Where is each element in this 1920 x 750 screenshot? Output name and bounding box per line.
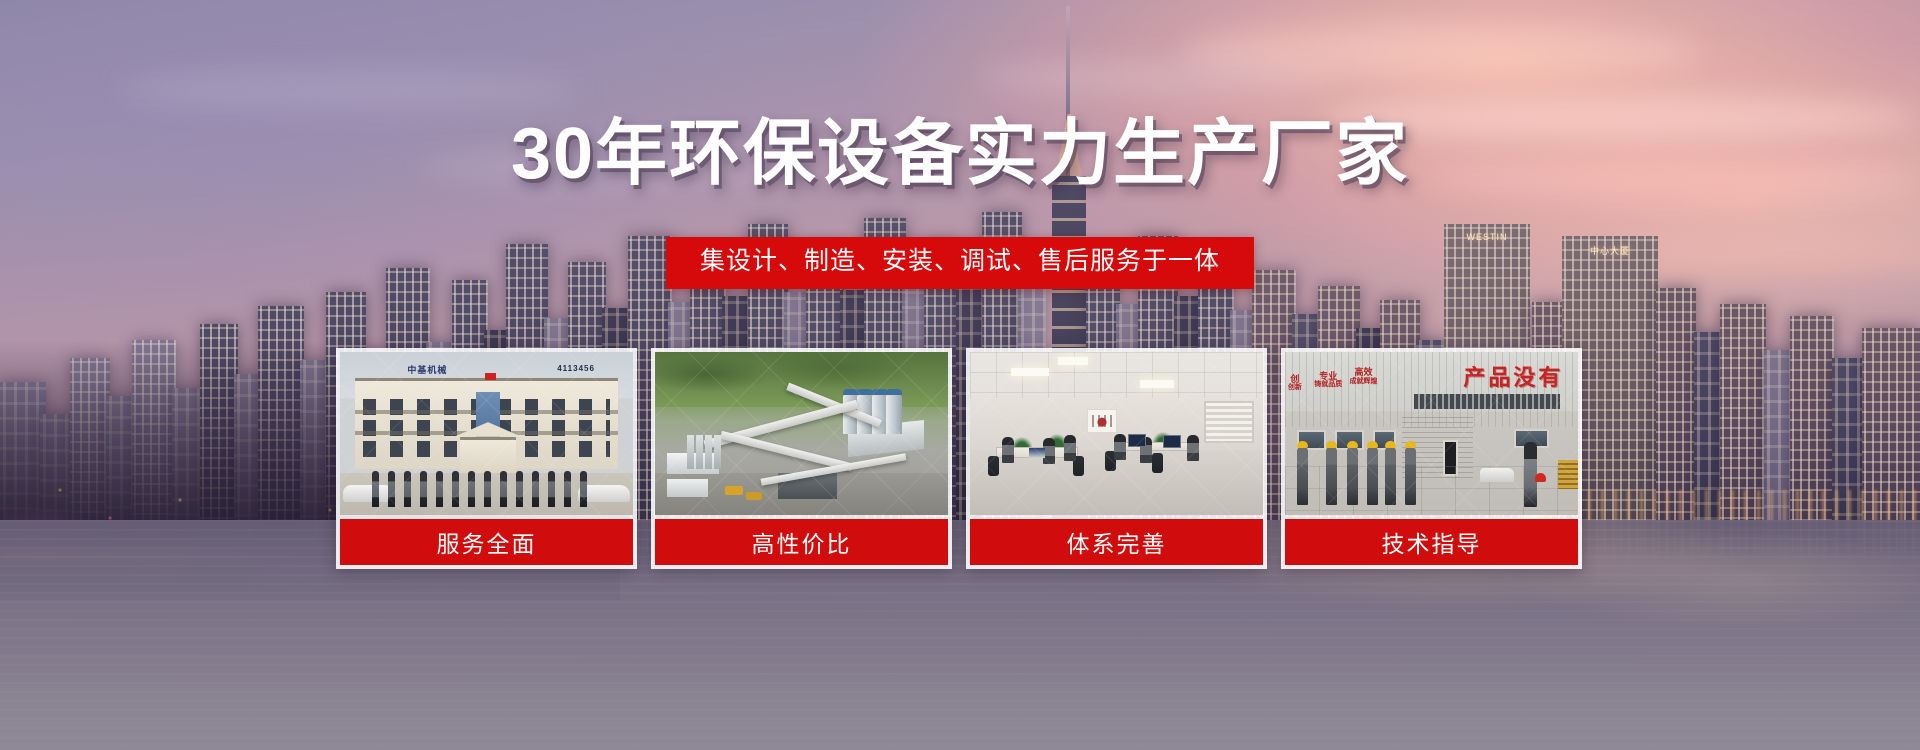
company-headquarters-photo: 中基机械 4113456 <box>340 352 633 515</box>
van-shape <box>1480 468 1514 482</box>
ceiling-light <box>1140 380 1174 388</box>
feature-card-label: 体系完善 <box>970 519 1263 565</box>
feature-card[interactable]: 中基机械 4113456 <box>336 348 637 569</box>
production-plant-aerial-photo <box>655 352 948 515</box>
feature-card-list: 中基机械 4113456 <box>336 348 1584 569</box>
banner-content: 30年环保设备实力生产厂家 集设计、制造、安装、调试、售后服务于一体 <box>0 0 1920 750</box>
feature-card[interactable]: 高性价比 <box>651 348 952 569</box>
red-helmet <box>1535 473 1546 482</box>
factory-sign-text: 产品没有 <box>1463 360 1563 392</box>
pipe-stack <box>1558 460 1579 489</box>
page-title: 30年环保设备实力生产厂家 <box>0 118 1920 190</box>
wall-slogan: 高效 成就辉煌 <box>1349 368 1377 385</box>
excavator-shape <box>725 486 743 495</box>
office-team-photo <box>970 352 1263 515</box>
subtitle-ribbon: 集设计、制造、安装、调试、售后服务于一体 <box>666 237 1254 289</box>
excavator-shape <box>746 492 762 500</box>
feature-card-label: 技术指导 <box>1285 519 1578 565</box>
feature-card-label: 高性价比 <box>655 519 948 565</box>
ceiling-light <box>1058 357 1088 365</box>
factory-training-photo: 产品没有 创 创新 专业 铸就品质 高效 成就辉煌 <box>1285 352 1578 515</box>
wall-poster <box>1087 409 1117 433</box>
ceiling-light <box>1011 368 1049 376</box>
wall-slogan: 创 创新 <box>1288 375 1302 392</box>
feature-card[interactable]: 体系完善 <box>966 348 1267 569</box>
company-logo-text: 中基机械 <box>407 363 447 376</box>
phone-number-text: 4113456 <box>557 364 595 373</box>
wall-slogan: 专业 铸就品质 <box>1314 372 1342 389</box>
flag-icon <box>485 373 496 380</box>
window-blind <box>1204 401 1254 443</box>
banner-stage: WESTIN 中心大厦 30年环保设备实力生产厂家 集设计、制造、安装、调试、售… <box>0 0 1920 750</box>
subtitle-text: 集设计、制造、安装、调试、售后服务于一体 <box>700 248 1220 276</box>
feature-card-label: 服务全面 <box>340 519 633 565</box>
supervisor-figure <box>1524 442 1537 507</box>
feature-card[interactable]: 产品没有 创 创新 专业 铸就品质 高效 成就辉煌 <box>1281 348 1582 569</box>
